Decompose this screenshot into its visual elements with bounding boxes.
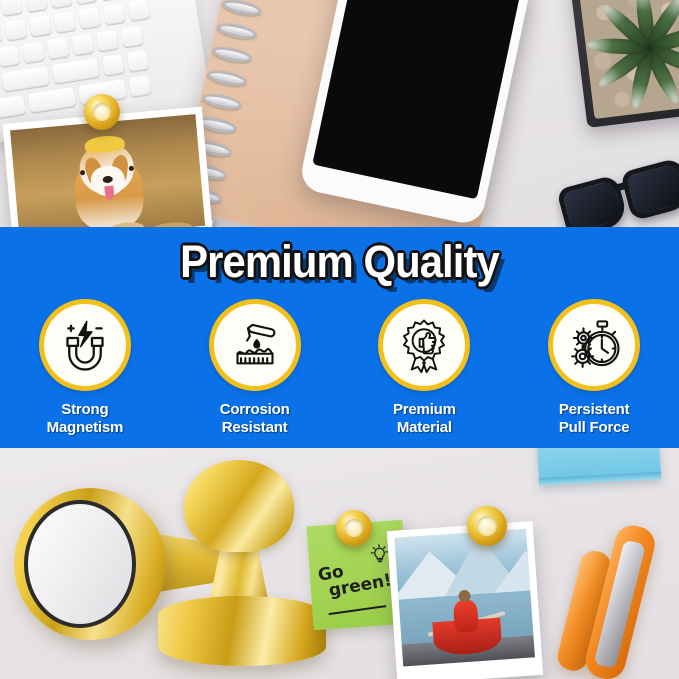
magnet-standing-base [158, 596, 326, 666]
page-title: Premium Quality [24, 236, 655, 288]
corrosion-test-icon [209, 299, 301, 391]
dog-photo-image [10, 114, 205, 228]
succulent-pot [569, 0, 679, 128]
note-underline [329, 605, 387, 615]
feature-corrosion-resistant: Corrosion Resistant [170, 299, 340, 436]
autumn-leaves [16, 182, 205, 228]
feature-label: Corrosion Resistant [220, 401, 290, 436]
feature-label-line2: Resistant [220, 419, 290, 437]
tablet-screen [312, 0, 520, 199]
stapler [582, 522, 672, 679]
pin-magnet [84, 94, 120, 130]
feature-label-line2: Magnetism [47, 419, 124, 437]
feature-premium-material: Premium Material [340, 299, 510, 436]
feature-label-line2: Material [393, 419, 456, 437]
feature-list: Strong Magnetism [0, 299, 679, 436]
feature-persistent-pull-force: Persistent Pull Force [509, 299, 679, 436]
magnet-lying-face [28, 504, 132, 624]
feature-label: Premium Material [393, 401, 456, 436]
kayak-photo-image [394, 529, 535, 667]
feature-banner: Premium Quality Strong [0, 227, 679, 448]
award-thumbs-up-icon [378, 299, 470, 391]
sunglasses [555, 152, 679, 228]
pin-magnet [467, 506, 507, 546]
feature-label-line1: Premium [393, 401, 456, 419]
magnet-standing-knob [184, 460, 294, 552]
magnet-standing [150, 460, 335, 665]
feature-label-line2: Pull Force [559, 419, 630, 437]
feature-strong-magnetism: Strong Magnetism [0, 299, 170, 436]
sunglasses-lens-right [620, 157, 679, 221]
magnet-lying [14, 488, 166, 640]
feature-label-line1: Strong [47, 401, 124, 419]
feature-label-line1: Corrosion [220, 401, 290, 419]
pin-magnet [336, 510, 372, 546]
feature-label-line1: Persistent [559, 401, 630, 419]
feature-label: Persistent Pull Force [559, 401, 630, 436]
feature-label: Strong Magnetism [47, 401, 124, 436]
horseshoe-magnet-icon [39, 299, 131, 391]
sticky-note-text: Go green! [317, 554, 400, 602]
product-poster: Premium Quality Strong [0, 0, 679, 679]
kayak-photo [387, 521, 543, 679]
tablet-device [298, 0, 532, 227]
bottom-product-scene: Go green! [0, 448, 679, 679]
top-lifestyle-scene [0, 0, 679, 228]
stopwatch-gears-icon [548, 299, 640, 391]
sunglasses-lens-left [556, 174, 629, 228]
sticky-note-blue [537, 448, 661, 485]
